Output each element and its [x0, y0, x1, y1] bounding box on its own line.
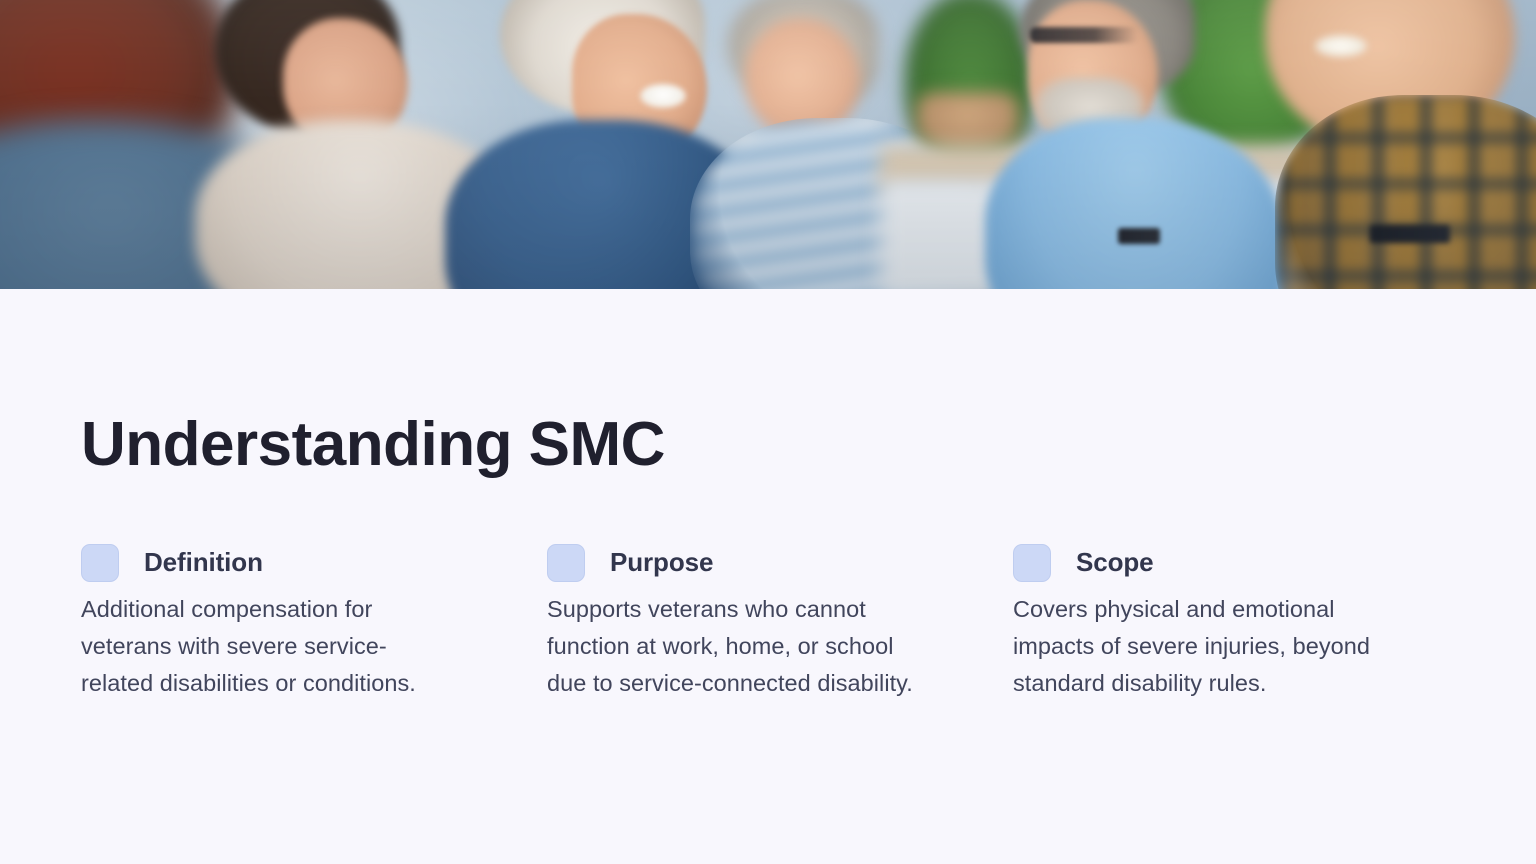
content-area: Understanding SMC Definition Additional …	[0, 289, 1536, 864]
feature-title: Definition	[144, 547, 263, 578]
person-right-shirt-pocket	[1370, 225, 1450, 243]
feature-title: Scope	[1076, 547, 1154, 578]
rounded-square-icon	[1013, 544, 1051, 582]
slide-root: Understanding SMC Definition Additional …	[0, 0, 1536, 864]
feature-title: Purpose	[610, 547, 713, 578]
feature-description: Covers physical and emotional impacts of…	[1013, 591, 1395, 702]
eyeglasses-icon	[1030, 27, 1138, 43]
page-title: Understanding SMC	[81, 409, 665, 480]
feature-column-purpose: Purpose Supports veterans who cannot fun…	[547, 544, 1013, 702]
person-three-smile	[640, 84, 686, 108]
hero-photo-backdrop	[0, 0, 1536, 289]
feature-description: Supports veterans who cannot function at…	[547, 591, 932, 702]
feature-description: Additional compensation for veterans wit…	[81, 591, 453, 702]
feature-heading-row: Scope	[1013, 544, 1483, 582]
feature-column-scope: Scope Covers physical and emotional impa…	[1013, 544, 1483, 702]
person-five-shirt-pocket	[1118, 228, 1160, 244]
hero-image	[0, 0, 1536, 289]
feature-heading-row: Definition	[81, 544, 547, 582]
feature-columns: Definition Additional compensation for v…	[81, 544, 1478, 702]
person-right-foreground-smile	[1315, 35, 1367, 57]
rounded-square-icon	[81, 544, 119, 582]
rounded-square-icon	[547, 544, 585, 582]
feature-heading-row: Purpose	[547, 544, 1013, 582]
feature-column-definition: Definition Additional compensation for v…	[81, 544, 547, 702]
plant-pot	[915, 92, 1020, 152]
